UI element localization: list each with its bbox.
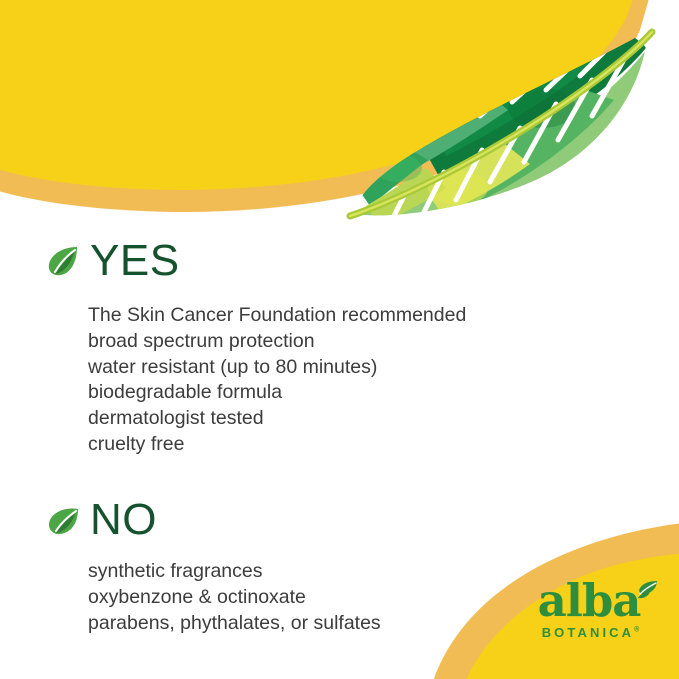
list-item: broad spectrum protection [88,329,679,355]
list-item: The Skin Cancer Foundation recommended [88,303,679,329]
brand-wordmark-text: alba [538,574,641,627]
section-no-header: NO [0,497,679,543]
brand-subtitle-text: BOTANICA [542,625,634,640]
leaf-icon [46,244,80,278]
banana-leaf-illustration [330,28,660,228]
section-yes: YES The Skin Cancer Foundation recommend… [0,238,679,458]
list-item: biodegradable formula [88,380,679,406]
product-feature-graphic: YES The Skin Cancer Foundation recommend… [0,0,679,679]
brand-wordmark-container: alba [524,578,654,624]
section-yes-title: YES [90,239,180,283]
registered-trademark-icon: ® [634,627,639,634]
section-yes-list: The Skin Cancer Foundation recommended b… [0,303,679,458]
list-item: cruelty free [88,432,679,458]
section-yes-header: YES [0,238,679,284]
brand-logo: alba BOTANICA® [524,578,654,644]
list-item: dermatologist tested [88,406,679,432]
brand-subtitle-container: BOTANICA® [524,625,654,640]
list-item: water resistant (up to 80 minutes) [88,355,679,381]
section-no-title: NO [90,498,157,542]
leaf-icon [46,503,80,537]
brand-leaf-icon [634,580,658,600]
